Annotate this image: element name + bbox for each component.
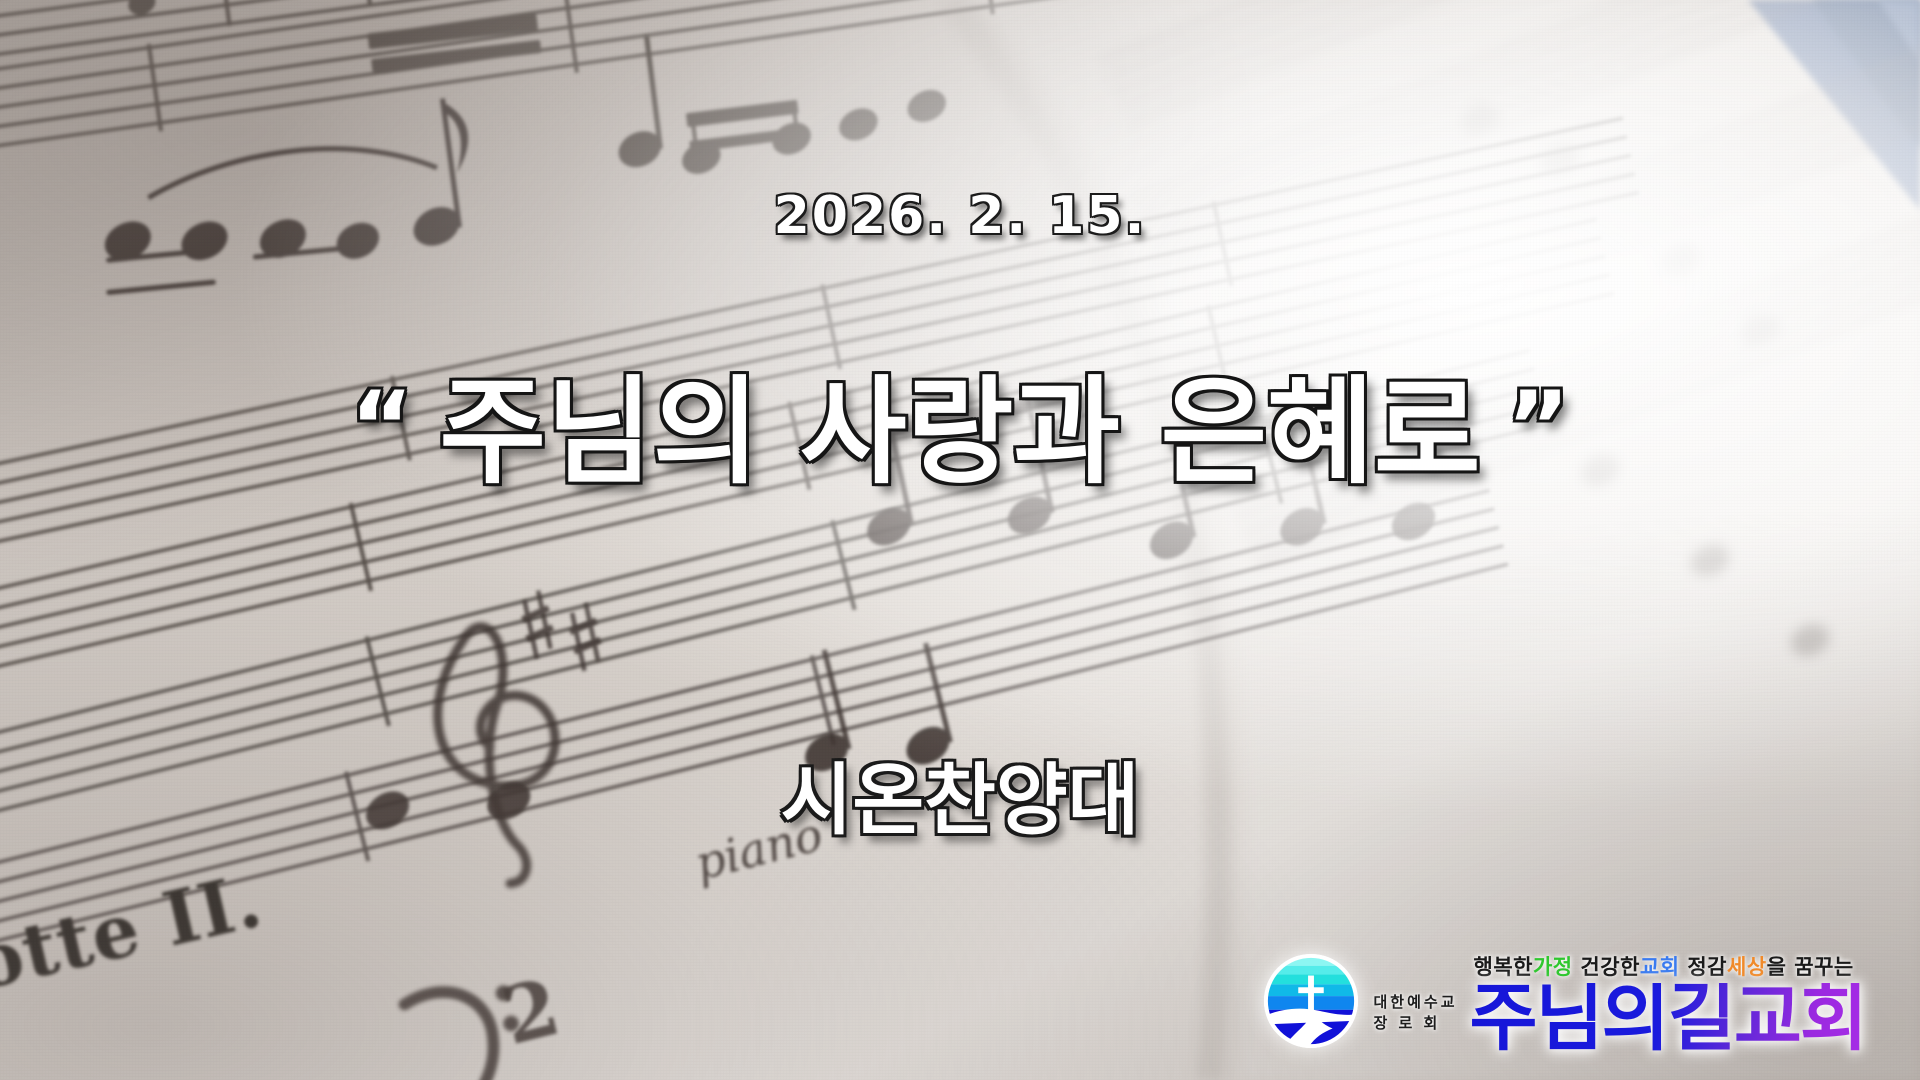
- slide-stage: 2 otte II. piano 2026. 2. 15. “주님의 사랑과 은…: [0, 0, 1920, 1080]
- church-logo-block: 대한예수교 장 로 회 행복한가정 건강한교회 정감세상을 꿈꾸는 주님의길교회: [1262, 951, 1867, 1054]
- denomination-text: 대한예수교 장 로 회: [1374, 992, 1458, 1034]
- denomination-line-2: 장 로 회: [1374, 1013, 1458, 1034]
- hymn-title: “주님의 사랑과 은혜로”: [0, 338, 1920, 506]
- church-name-wrap: 행복한가정 건강한교회 정감세상을 꿈꾸는 주님의길교회: [1470, 951, 1866, 1054]
- service-date: 2026. 2. 15.: [0, 186, 1920, 246]
- quote-open: “: [350, 371, 413, 483]
- denomination-line-1: 대한예수교: [1374, 992, 1458, 1013]
- church-name: 주님의길교회: [1470, 983, 1866, 1054]
- text-overlay: 2026. 2. 15. “주님의 사랑과 은혜로” 시온찬양대: [0, 0, 1920, 1080]
- performer-name: 시온찬양대: [0, 738, 1920, 850]
- quote-close: ”: [1507, 371, 1570, 483]
- cross-over-path-circle-icon: [1262, 952, 1360, 1050]
- hymn-title-text: 주님의 사랑과 은혜로: [439, 365, 1480, 500]
